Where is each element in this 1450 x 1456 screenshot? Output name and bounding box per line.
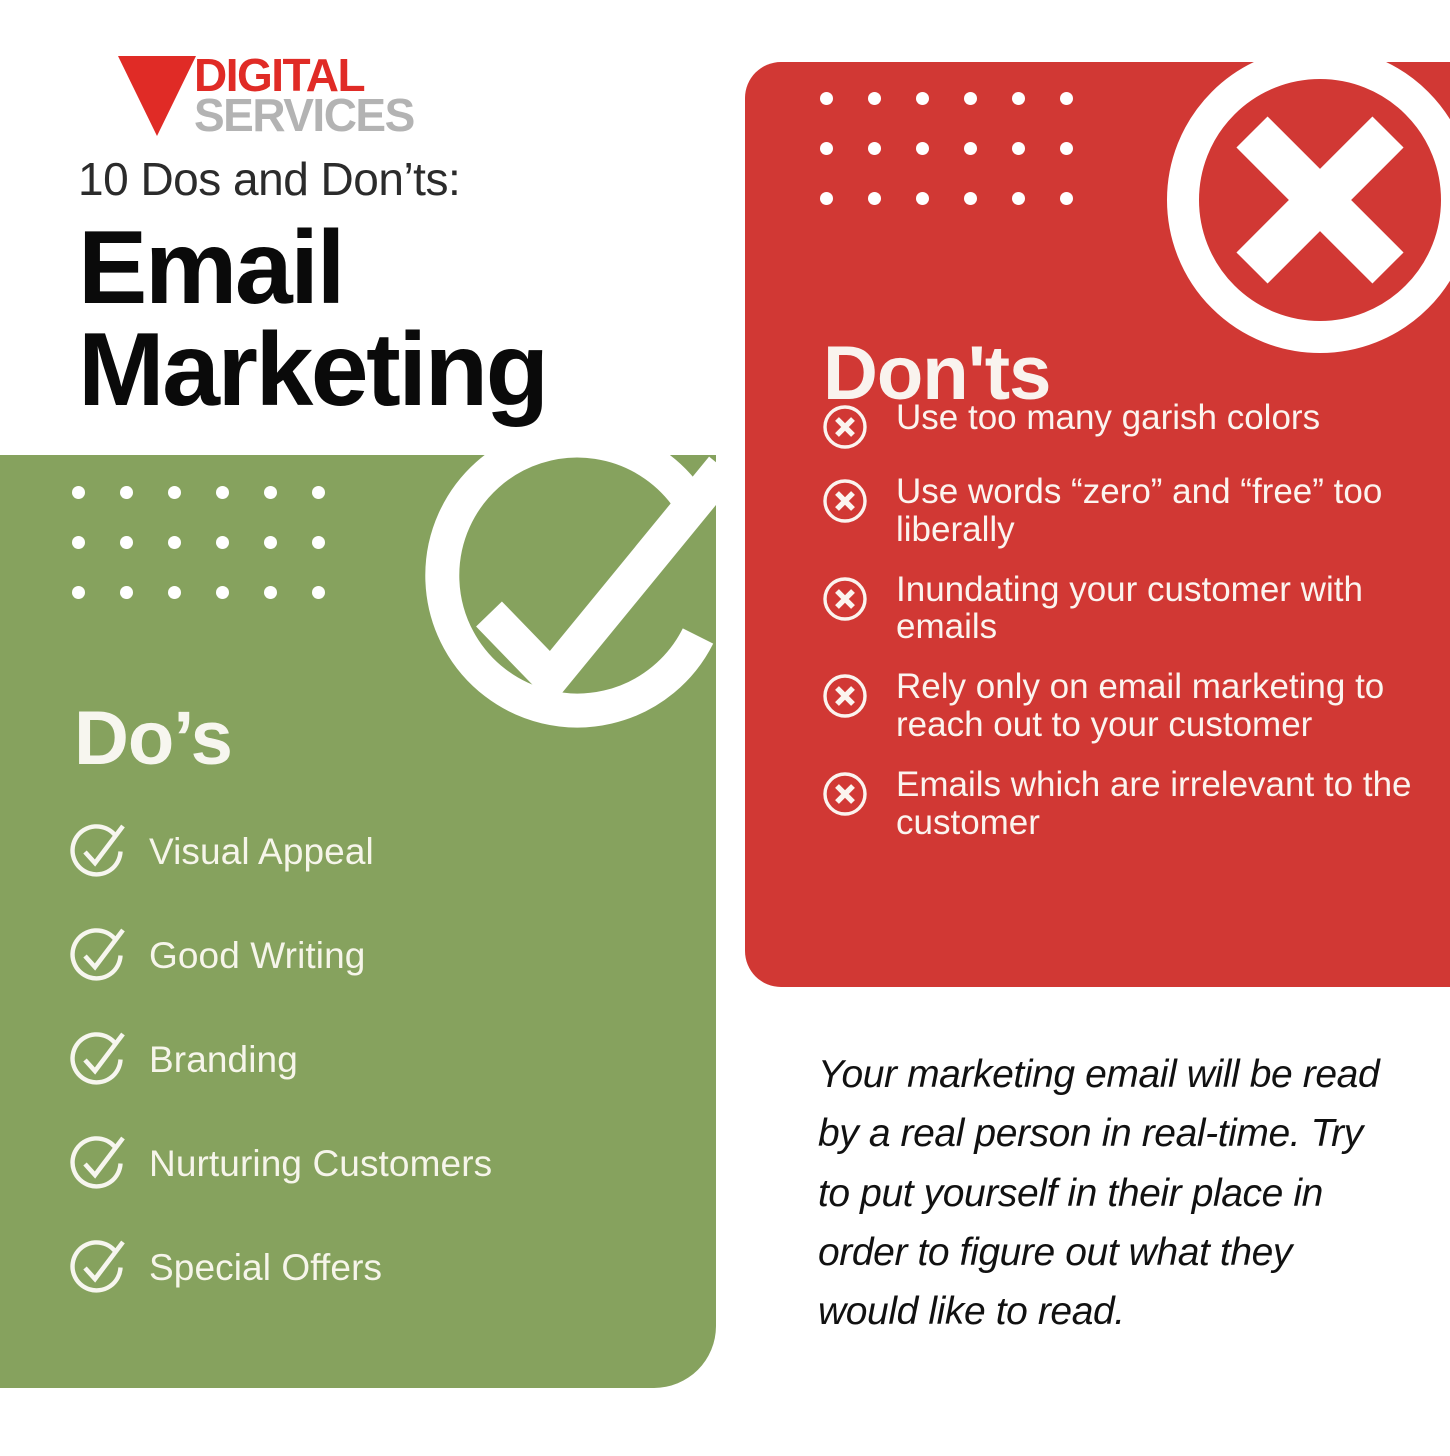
pattern-dot: [868, 142, 881, 155]
pattern-dot: [964, 192, 977, 205]
brand-name-services: SERVICES: [194, 92, 414, 138]
list-item: Inundating your customer with emails: [821, 571, 1450, 647]
pattern-dot: [120, 536, 133, 549]
x-circle-icon-large: [1160, 62, 1450, 360]
list-item: Use words “zero” and “free” too liberall…: [821, 473, 1450, 549]
pattern-dot: [964, 92, 977, 105]
check-circle-icon: [66, 1133, 128, 1195]
x-circle-icon: [821, 575, 869, 623]
list-item-label: Emails which are irrelevant to the custo…: [896, 766, 1450, 842]
pattern-dot: [312, 586, 325, 599]
list-item-label: Nurturing Customers: [149, 1143, 492, 1185]
list-item-label: Branding: [149, 1039, 298, 1081]
pattern-dot: [916, 192, 929, 205]
list-item-label: Rely only on email marketing to reach ou…: [896, 668, 1450, 744]
list-item-label: Visual Appeal: [149, 831, 374, 873]
check-circle-icon: [66, 1029, 128, 1091]
pattern-dot: [120, 486, 133, 499]
pattern-dot: [72, 486, 85, 499]
pattern-dot: [168, 586, 181, 599]
page-title: Email Marketing: [78, 218, 547, 422]
check-circle-icon-large: [393, 455, 716, 786]
pattern-dot: [72, 536, 85, 549]
pattern-dot: [1012, 92, 1025, 105]
pattern-dot: [168, 536, 181, 549]
infographic-poster: DIGITAL SERVICES 10 Dos and Don’ts: Emai…: [0, 0, 1450, 1456]
pattern-dot: [964, 142, 977, 155]
pattern-dot: [312, 536, 325, 549]
footnote-text: Your marketing email will be read by a r…: [818, 1045, 1400, 1341]
pattern-dot: [1060, 192, 1073, 205]
dot-grid-pattern-red: [820, 92, 1088, 222]
dot-grid-pattern-green: [72, 455, 340, 606]
list-item-label: Inundating your customer with emails: [896, 571, 1450, 647]
check-circle-icon: [66, 925, 128, 987]
page-title-line1: Email: [78, 218, 547, 320]
dos-list: Visual Appeal Good Writing Branding: [66, 800, 686, 1320]
list-item-label: Use words “zero” and “free” too liberall…: [896, 473, 1450, 549]
donts-list: Use too many garish colors Use words “ze…: [821, 399, 1450, 863]
pattern-dot: [868, 92, 881, 105]
pattern-dot: [264, 586, 277, 599]
donts-panel: Don'ts Use too many garish colors Use wo…: [745, 62, 1450, 987]
list-item: Rely only on email marketing to reach ou…: [821, 668, 1450, 744]
list-item: Emails which are irrelevant to the custo…: [821, 766, 1450, 842]
list-item: Special Offers: [66, 1216, 686, 1320]
pattern-dot: [168, 486, 181, 499]
check-circle-icon: [66, 821, 128, 883]
list-item: Visual Appeal: [66, 800, 686, 904]
pattern-dot: [264, 536, 277, 549]
pattern-dot: [868, 192, 881, 205]
page-title-line2: Marketing: [78, 320, 547, 422]
list-item-label: Use too many garish colors: [896, 399, 1320, 437]
pattern-dot: [1060, 92, 1073, 105]
dos-panel: Do’s Visual Appeal Good Writing: [0, 455, 716, 1388]
pattern-dot: [216, 486, 229, 499]
brand-logo: DIGITAL SERVICES: [118, 54, 438, 150]
pattern-dot: [1012, 192, 1025, 205]
list-item: Branding: [66, 1008, 686, 1112]
pattern-dot: [820, 92, 833, 105]
x-circle-icon: [821, 770, 869, 818]
pattern-dot: [1060, 142, 1073, 155]
pattern-dot: [120, 586, 133, 599]
pattern-dot: [820, 142, 833, 155]
pattern-dot: [820, 192, 833, 205]
v-chevron-logo-icon: [118, 54, 196, 138]
pattern-dot: [216, 586, 229, 599]
list-item-label: Special Offers: [149, 1247, 382, 1289]
list-item: Good Writing: [66, 904, 686, 1008]
list-item: Use too many garish colors: [821, 399, 1450, 451]
pattern-dot: [1012, 142, 1025, 155]
x-circle-icon: [821, 403, 869, 451]
list-item: Nurturing Customers: [66, 1112, 686, 1216]
pattern-dot: [916, 142, 929, 155]
pattern-dot: [216, 536, 229, 549]
pattern-dot: [264, 486, 277, 499]
pattern-dot: [72, 586, 85, 599]
pattern-dot: [916, 92, 929, 105]
check-circle-icon: [66, 1237, 128, 1299]
x-circle-icon: [821, 672, 869, 720]
pattern-dot: [312, 486, 325, 499]
list-item-label: Good Writing: [149, 935, 365, 977]
dos-heading: Do’s: [74, 695, 232, 782]
x-circle-icon: [821, 477, 869, 525]
kicker-text: 10 Dos and Don’ts:: [78, 152, 460, 206]
